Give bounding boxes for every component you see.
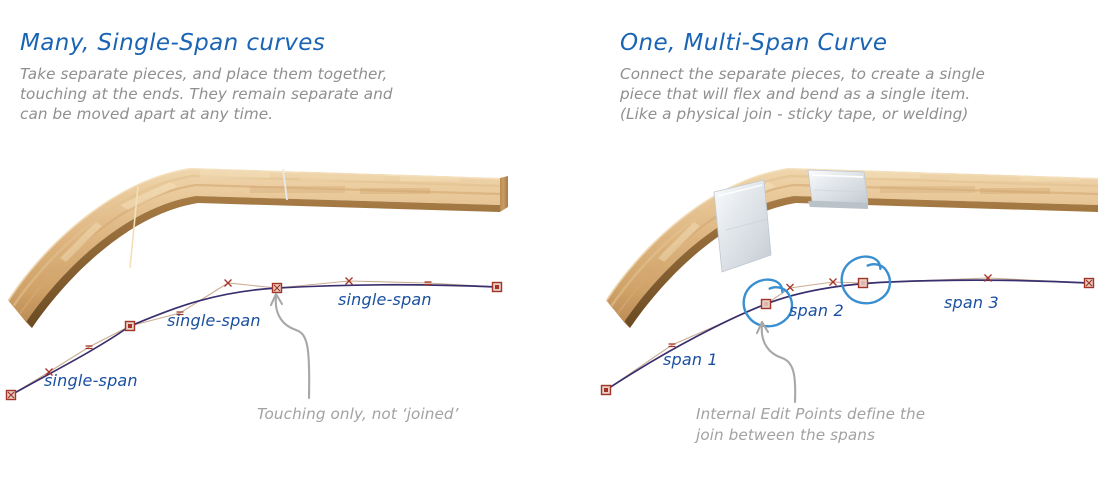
edit-point-end-right[interactable] xyxy=(1085,279,1094,288)
callout-leader-left xyxy=(271,294,309,398)
edit-point-join-1[interactable] xyxy=(126,322,135,331)
highlight-circles xyxy=(738,251,895,333)
span-label-span-1: span 1 xyxy=(663,350,718,369)
edit-point-join-2[interactable] xyxy=(273,284,282,293)
callout-leader-right xyxy=(757,322,795,402)
edit-point-end-right[interactable] xyxy=(493,283,502,292)
span-label-single-span-3: single-span xyxy=(338,290,432,309)
panel-right-callout: Internal Edit Points define the join bet… xyxy=(696,404,925,446)
panel-left-artwork xyxy=(0,0,550,500)
internal-edit-point-2[interactable] xyxy=(859,279,868,288)
plank-right-cap xyxy=(500,176,508,212)
span-label-single-span-1: single-span xyxy=(44,371,138,390)
panel-one-multi-span: One, Multi-Span Curve Connect the separa… xyxy=(550,0,1100,500)
tape-patch-1 xyxy=(714,180,771,272)
edit-point-end-left[interactable] xyxy=(602,386,611,395)
span-label-span-3: span 3 xyxy=(944,293,999,312)
span-label-span-2: span 2 xyxy=(789,301,844,320)
panel-left-callout: Touching only, not ‘joined’ xyxy=(257,404,459,425)
wooden-plank-right xyxy=(606,168,1098,328)
span-label-single-span-2: single-span xyxy=(167,311,261,330)
edit-point-end-left[interactable] xyxy=(7,391,16,400)
wooden-plank-left xyxy=(8,168,508,328)
panel-many-single-span: Many, Single-Span curves Take separate p… xyxy=(0,0,550,500)
tape-patch-2 xyxy=(808,170,868,209)
illustration-canvas: Many, Single-Span curves Take separate p… xyxy=(0,0,1100,500)
internal-edit-point-1[interactable] xyxy=(762,300,771,309)
